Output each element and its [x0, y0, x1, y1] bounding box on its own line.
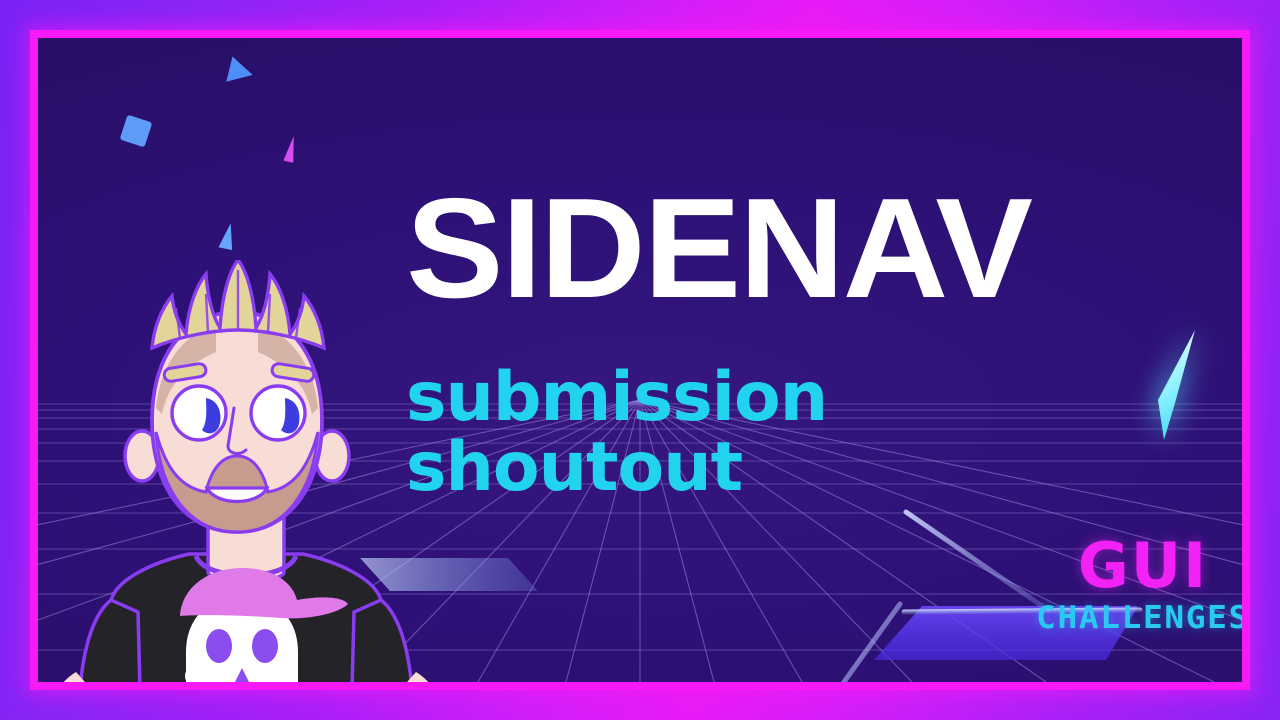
content-panel: SIDENAV submission shoutout GUI CHALLENG… — [38, 38, 1242, 682]
page-subtitle: submission shoutout — [406, 363, 827, 503]
cyan-spark-icon — [1146, 326, 1206, 446]
page-subtitle-line-2: shoutout — [406, 433, 827, 503]
thumbnail-stage: SIDENAV submission shoutout GUI CHALLENG… — [0, 0, 1280, 720]
avatar — [56, 260, 436, 682]
page-subtitle-line-1: submission — [406, 363, 827, 433]
brand-logo-primary: GUI — [1018, 535, 1242, 597]
brand-logo: GUI CHALLENGES — [1018, 535, 1242, 634]
brand-logo-secondary: CHALLENGES — [1011, 603, 1243, 634]
page-title: SIDENAV — [406, 181, 1031, 317]
